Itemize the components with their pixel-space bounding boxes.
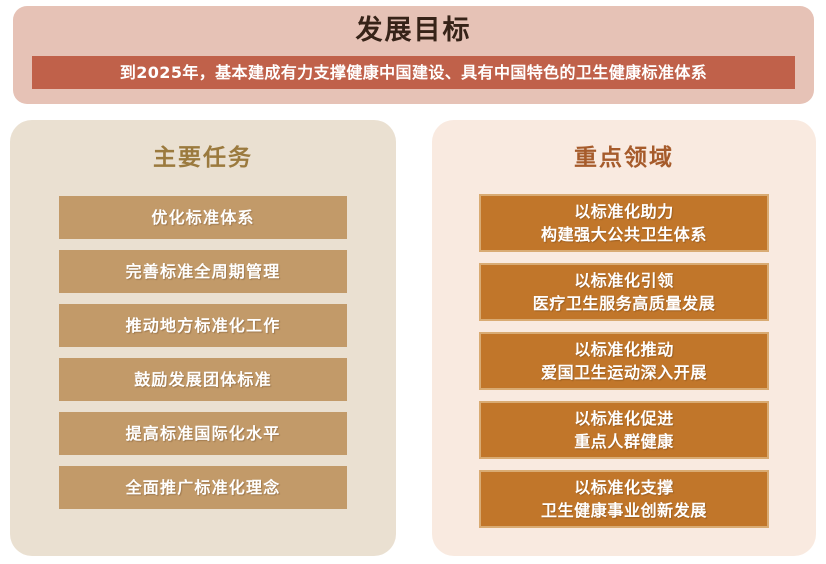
key-area-item[interactable]: 以标准化支撑 卫生健康事业创新发展 <box>479 470 769 528</box>
key-area-item[interactable]: 以标准化助力 构建强大公共卫生体系 <box>479 194 769 252</box>
key-area-line-2: 医疗卫生服务高质量发展 <box>533 292 716 315</box>
main-tasks-heading: 主要任务 <box>10 143 396 173</box>
key-areas-list: 以标准化助力 构建强大公共卫生体系 以标准化引领 医疗卫生服务高质量发展 以标准… <box>432 194 816 528</box>
main-task-item[interactable]: 推动地方标准化工作 <box>59 304 347 347</box>
key-area-line-2: 卫生健康事业创新发展 <box>541 499 707 522</box>
main-task-item[interactable]: 提高标准国际化水平 <box>59 412 347 455</box>
goal-statement-banner: 到2025年，基本建成有力支撑健康中国建设、具有中国特色的卫生健康标准体系 <box>32 56 795 89</box>
key-area-item[interactable]: 以标准化引领 医疗卫生服务高质量发展 <box>479 263 769 321</box>
development-goal-header-card: 发展目标 到2025年，基本建成有力支撑健康中国建设、具有中国特色的卫生健康标准… <box>13 6 814 104</box>
key-area-line-1: 以标准化助力 <box>574 200 674 223</box>
key-areas-heading: 重点领域 <box>432 143 816 173</box>
key-area-line-1: 以标准化引领 <box>574 269 674 292</box>
key-area-line-2: 重点人群健康 <box>574 430 674 453</box>
key-area-line-1: 以标准化支撑 <box>574 476 674 499</box>
main-task-item[interactable]: 完善标准全周期管理 <box>59 250 347 293</box>
main-task-item[interactable]: 鼓励发展团体标准 <box>59 358 347 401</box>
page-title: 发展目标 <box>13 13 814 49</box>
key-area-line-2: 爱国卫生运动深入开展 <box>541 361 707 384</box>
key-area-line-1: 以标准化促进 <box>574 407 674 430</box>
key-areas-card: 重点领域 以标准化助力 构建强大公共卫生体系 以标准化引领 医疗卫生服务高质量发… <box>432 120 816 556</box>
key-area-line-1: 以标准化推动 <box>574 338 674 361</box>
main-tasks-card: 主要任务 优化标准体系 完善标准全周期管理 推动地方标准化工作 鼓励发展团体标准… <box>10 120 396 556</box>
key-area-item[interactable]: 以标准化推动 爱国卫生运动深入开展 <box>479 332 769 390</box>
main-task-item[interactable]: 全面推广标准化理念 <box>59 466 347 509</box>
key-area-item[interactable]: 以标准化促进 重点人群健康 <box>479 401 769 459</box>
key-area-line-2: 构建强大公共卫生体系 <box>541 223 707 246</box>
goal-statement-text: 到2025年，基本建成有力支撑健康中国建设、具有中国特色的卫生健康标准体系 <box>120 63 707 83</box>
main-tasks-list: 优化标准体系 完善标准全周期管理 推动地方标准化工作 鼓励发展团体标准 提高标准… <box>10 196 396 509</box>
main-task-item[interactable]: 优化标准体系 <box>59 196 347 239</box>
